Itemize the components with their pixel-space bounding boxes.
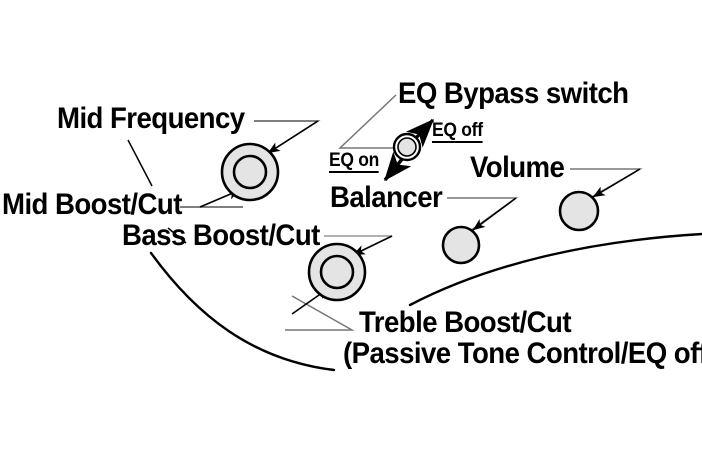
label-volume: Volume [470,153,564,183]
label-bass-boost-cut: Bass Boost/Cut [122,221,320,251]
label-eq-bypass-switch: EQ Bypass switch [398,79,628,109]
label-treble-passive-note: (Passive Tone Control/EQ off) [343,339,702,369]
label-eq-off: EQ off [432,121,483,143]
guitar-control-diagram: Mid Frequency Mid Boost/Cut Bass Boost/C… [0,0,702,464]
arrow-eq-on-position [385,158,403,180]
treble-boost-cut-knob-inner[interactable] [321,256,353,288]
body-outline-curve-left [151,253,334,370]
leader-treble-boost-cut [285,296,352,330]
mid-boost-cut-knob-inner[interactable] [234,156,266,188]
leader-arrow-volume [593,169,640,197]
leader-arrow-balancer [473,198,516,230]
leader-arrow-mid-frequency [268,121,318,153]
label-treble-boost-cut: Treble Boost/Cut [359,308,571,338]
leader-tick-mid-frequency-to-label [128,140,152,186]
label-balancer: Balancer [330,183,442,213]
volume-knob[interactable] [560,192,598,230]
leader-eq-bypass-switch [340,95,396,148]
leader-arrow-bass-boost-cut [353,236,392,255]
label-eq-on: EQ on [329,151,379,173]
label-mid-frequency: Mid Frequency [57,104,245,134]
label-mid-boost-cut: Mid Boost/Cut [2,190,182,220]
eq-bypass-switch-cap[interactable] [398,138,416,156]
diagram-vector-layer [0,0,702,464]
balancer-knob[interactable] [443,227,479,263]
